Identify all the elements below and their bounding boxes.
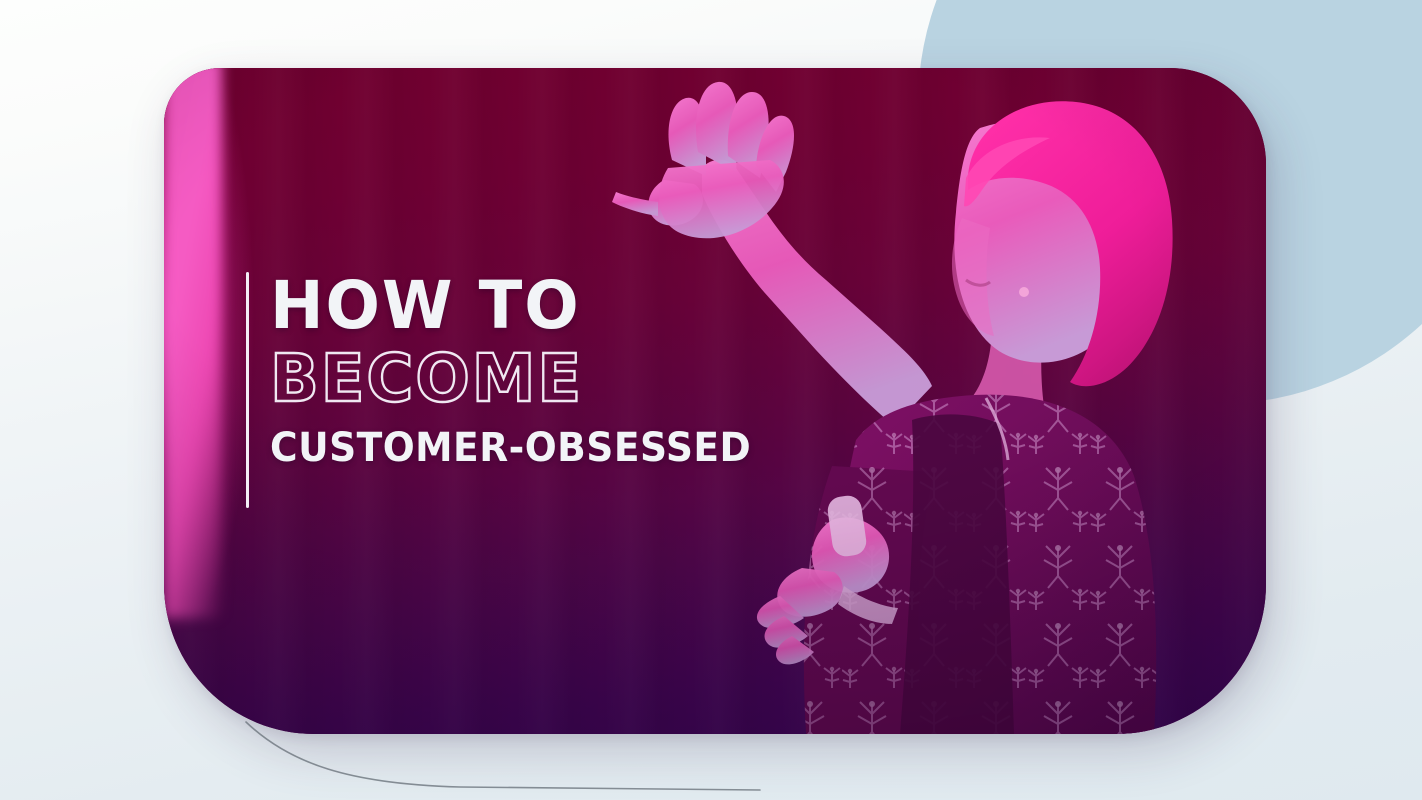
photo-card-wrapper: HOW TO BECOME CUSTOMER-OBSESSED — [164, 68, 1266, 734]
vertical-accent-rule — [246, 272, 249, 508]
title-line-customer-obsessed: CUSTOMER-OBSESSED — [270, 422, 751, 474]
title-block: HOW TO BECOME CUSTOMER-OBSESSED — [246, 272, 782, 508]
photo-card: HOW TO BECOME CUSTOMER-OBSESSED — [164, 68, 1266, 734]
slide-canvas: HOW TO BECOME CUSTOMER-OBSESSED — [0, 0, 1422, 800]
title-line-become: BECOME — [270, 340, 767, 418]
title-line-how-to: HOW TO — [270, 272, 767, 340]
